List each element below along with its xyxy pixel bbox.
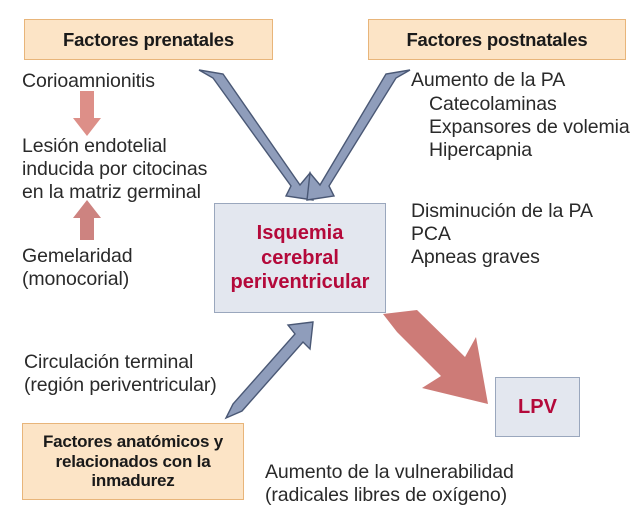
arrow-ischemia-to-lpv-icon [383, 310, 488, 404]
label-circulacion-terminal: Circulación terminal (región periventric… [24, 351, 217, 397]
header-box-prenatal-factors: Factores prenatales [24, 19, 273, 60]
label-disminucion-de-la-pa-group: Disminución de la PA PCA Apneas graves [411, 200, 593, 269]
label-aumento-pa-sublist: Catecolaminas Expansores de volemia Hipe… [429, 93, 630, 162]
arrow-gemelaridad-to-lesion-icon [73, 200, 101, 240]
diagram-canvas: Factores prenatales Factores postnatales… [0, 0, 643, 517]
header-box-postnatal-factors: Factores postnatales [368, 19, 626, 60]
node-box-lpv: LPV [495, 377, 580, 437]
arrow-corioamnionitis-to-lesion-icon [73, 91, 101, 136]
label-gemelaridad: Gemelaridad (monocorial) [22, 245, 133, 291]
label-lesion-endotelial: Lesión endotelial inducida por citocinas… [22, 135, 207, 204]
label-aumento-vulnerabilidad: Aumento de la vulnerabilidad (radicales … [265, 461, 514, 507]
label-corioamnionitis: Corioamnionitis [22, 70, 155, 93]
arrow-anatomic-to-ischemia-icon [226, 322, 313, 418]
label-aumento-de-la-pa: Aumento de la PA [411, 69, 565, 92]
node-box-isquemia-cerebral-periventricular: Isquemia cerebral periventricular [214, 203, 386, 313]
header-box-anatomic-factors: Factores anatómicos y relacionados con l… [22, 423, 244, 500]
arrow-prenatal-to-ischemia-icon [199, 70, 313, 200]
arrow-postnatal-to-ischemia-icon [307, 70, 410, 200]
